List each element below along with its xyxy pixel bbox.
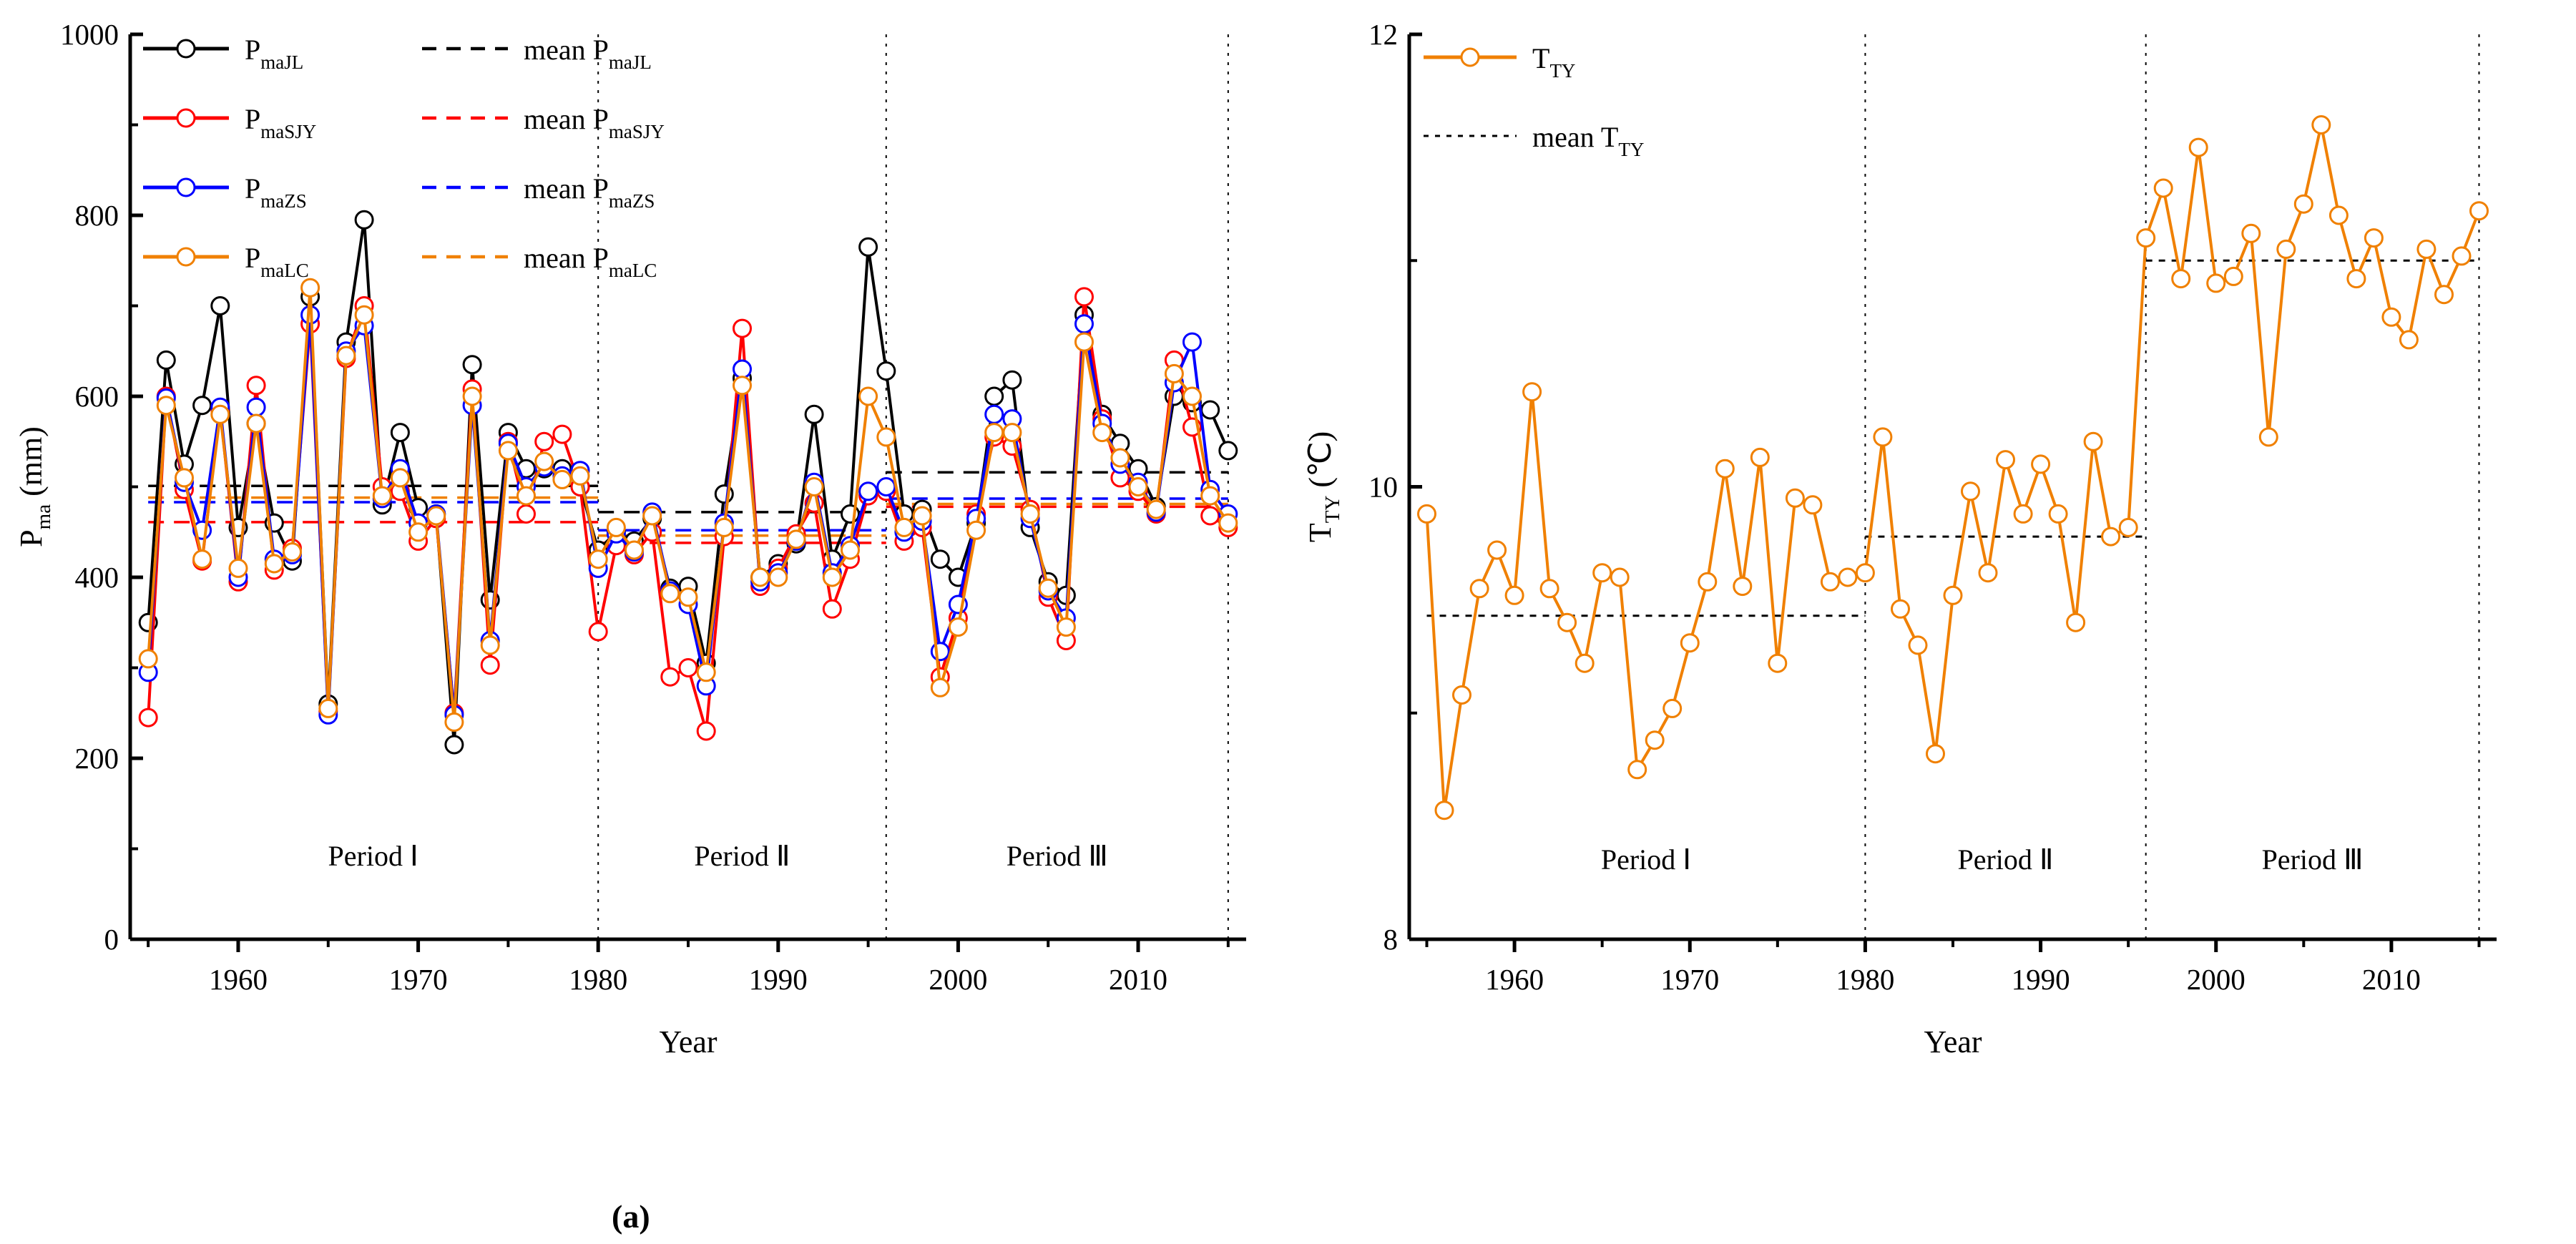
data-point-marker [1076, 288, 1093, 305]
x-tick-label: 2000 [2187, 963, 2246, 996]
series-group [139, 211, 1237, 753]
data-point-marker [1004, 371, 1021, 388]
data-point-marker [2190, 139, 2207, 156]
data-point-marker [554, 471, 571, 488]
data-point-marker [481, 657, 499, 674]
data-point-marker [1874, 428, 1891, 446]
data-point-marker [157, 351, 175, 368]
period-label: Period Ⅰ [1601, 843, 1691, 876]
period-label: Period Ⅲ [1007, 840, 1108, 872]
data-point-marker [1927, 745, 1944, 763]
data-point-marker [1220, 514, 1237, 532]
data-point-marker [338, 347, 355, 364]
data-point-marker [2436, 286, 2453, 303]
y-tick-label: 600 [75, 380, 119, 413]
data-point-marker [194, 397, 211, 414]
data-point-marker [212, 406, 229, 423]
series-line [1427, 125, 2479, 810]
data-point-marker [2330, 207, 2347, 224]
period-label: Period Ⅱ [1957, 843, 2053, 876]
data-point-marker [554, 426, 571, 443]
data-point-marker [1856, 564, 1874, 582]
data-point-marker [1524, 383, 1541, 401]
data-point-marker [2155, 180, 2172, 197]
legend-label: mean PmaZS [524, 172, 655, 212]
legend: PmaJLPmaSJYPmaZSPmaLCmean PmaJLmean PmaS… [143, 34, 665, 281]
data-point-marker [518, 487, 535, 504]
panel-a-label: (a) [612, 1198, 650, 1235]
data-point-marker [1769, 655, 1786, 672]
data-point-marker [860, 483, 877, 500]
data-point-marker [302, 279, 319, 296]
legend-item[interactable]: PmaZS [143, 172, 307, 212]
data-point-marker [1202, 507, 1219, 524]
data-point-marker [1559, 614, 1576, 631]
legend-label: TTY [1532, 42, 1575, 82]
data-point-marker [1997, 451, 2014, 469]
period-label: Period Ⅱ [694, 840, 790, 872]
data-point-marker [2085, 433, 2102, 450]
data-point-marker [1419, 505, 1436, 522]
data-point-marker [1681, 635, 1698, 652]
y-tick-label: 200 [75, 742, 119, 775]
data-point-marker [878, 428, 895, 446]
y-axis-title: TTY (℃) [1303, 431, 1344, 542]
mean-lines [148, 472, 1228, 543]
data-point-marker [589, 551, 607, 568]
chart-b-svg: 81012196019701980199020002010TTY (℃)Year… [1295, 0, 2576, 1145]
legend-label: mean TTY [1532, 121, 1644, 160]
y-axis-title: Pma (mm) [14, 426, 55, 547]
data-point-marker [662, 585, 679, 602]
data-point-marker [212, 298, 229, 315]
data-point-marker [2049, 505, 2067, 522]
data-point-marker [626, 542, 643, 559]
data-point-marker [464, 388, 481, 405]
legend-label: mean PmaLC [524, 242, 657, 281]
data-point-marker [986, 388, 1003, 405]
data-point-marker [1436, 802, 1453, 819]
data-point-marker [320, 700, 337, 717]
y-tick-label: 800 [75, 199, 119, 232]
data-point-marker [1165, 365, 1182, 382]
x-tick-label: 1960 [1485, 963, 1544, 996]
legend-label: PmaZS [245, 172, 307, 212]
data-point-marker [896, 519, 913, 536]
data-point-marker [2260, 428, 2277, 446]
legend-label: mean PmaJL [524, 34, 652, 73]
x-axis-title: Year [1924, 1024, 1982, 1059]
legend-label: PmaJL [245, 34, 303, 73]
data-point-marker [1454, 687, 1471, 704]
data-point-marker [464, 356, 481, 373]
data-point-marker [1112, 449, 1129, 466]
data-point-marker [248, 377, 265, 394]
data-point-marker [1646, 732, 1663, 749]
data-point-marker [878, 363, 895, 380]
data-point-marker [2225, 268, 2242, 285]
data-point-marker [2400, 331, 2417, 348]
data-point-marker [1220, 442, 1237, 459]
data-point-marker [194, 551, 211, 568]
y-tick-label: 10 [1368, 471, 1398, 504]
legend-item[interactable]: mean PmaZS [422, 172, 655, 212]
data-point-marker [248, 415, 265, 432]
y-tick-label: 400 [75, 561, 119, 594]
data-point-marker [734, 361, 751, 378]
data-point-marker [914, 507, 931, 524]
data-point-marker [752, 569, 769, 586]
legend-swatch-marker [177, 248, 195, 265]
period-label: Period Ⅲ [2262, 843, 2364, 876]
data-point-marker [1979, 564, 1997, 582]
x-tick-label: 2000 [929, 963, 987, 996]
data-point-marker [1022, 506, 1039, 523]
data-point-marker [662, 668, 679, 685]
data-point-marker [1821, 573, 1838, 590]
data-point-marker [968, 521, 985, 539]
data-point-marker [356, 211, 373, 228]
svg-text:Pma (mm): Pma (mm) [14, 426, 55, 547]
data-point-marker [734, 377, 751, 394]
data-point-marker [536, 433, 553, 450]
data-point-marker [1147, 501, 1165, 518]
data-point-marker [1839, 569, 1856, 586]
data-point-marker [1004, 424, 1021, 441]
data-point-marker [1944, 587, 1962, 604]
data-point-marker [860, 238, 877, 255]
data-point-marker [2243, 225, 2260, 242]
data-point-marker [1094, 424, 1111, 441]
period-labels: Period ⅠPeriod ⅡPeriod Ⅲ [1601, 843, 2364, 876]
x-tick-label: 2010 [1109, 963, 1167, 996]
legend-item[interactable]: PmaSJY [143, 103, 316, 142]
data-point-marker [2278, 240, 2295, 258]
data-point-marker [2208, 275, 2225, 292]
data-point-marker [644, 507, 661, 524]
data-point-marker [373, 487, 391, 504]
legend-swatch-marker [177, 40, 195, 57]
y-tick-label: 8 [1384, 923, 1399, 956]
legend-item[interactable]: PmaJL [143, 34, 303, 73]
data-point-marker [1039, 579, 1057, 597]
data-point-marker [284, 544, 301, 561]
data-point-marker [1594, 564, 1611, 582]
data-point-marker [391, 424, 408, 441]
data-point-marker [1962, 483, 1979, 500]
data-point-marker [2014, 505, 2032, 522]
data-point-marker [1506, 587, 1523, 604]
legend-item[interactable]: TTY [1424, 42, 1575, 82]
data-point-marker [446, 713, 463, 730]
data-point-marker [805, 406, 823, 423]
data-point-marker [2313, 117, 2330, 134]
data-point-marker [823, 600, 841, 617]
data-point-marker [481, 637, 499, 654]
data-point-marker [2471, 202, 2488, 220]
data-point-marker [842, 542, 859, 559]
x-axis-title: Year [659, 1024, 717, 1059]
legend: TTYmean TTY [1424, 42, 1644, 160]
data-point-marker [823, 569, 841, 586]
panel-a: 0200400600800100019601970198019902000201… [0, 0, 1295, 1244]
svg-text:TTY (℃): TTY (℃) [1303, 431, 1344, 542]
data-point-marker [1076, 315, 1093, 333]
data-point-marker [986, 406, 1003, 423]
data-point-marker [1734, 578, 1751, 595]
x-tick-label: 1960 [209, 963, 268, 996]
series [1419, 117, 2488, 819]
data-point-marker [265, 555, 283, 572]
data-point-marker [986, 424, 1003, 441]
legend-item[interactable]: mean TTY [1424, 121, 1644, 160]
data-point-marker [2032, 456, 2049, 473]
chart-a-svg: 0200400600800100019601970198019902000201… [0, 0, 1295, 1145]
data-point-marker [1541, 580, 1558, 597]
data-point-marker [931, 551, 949, 568]
y-tick-label: 12 [1368, 18, 1398, 51]
x-tick-label: 1980 [1836, 963, 1894, 996]
data-point-marker [805, 479, 823, 496]
legend-item[interactable]: mean PmaJL [422, 34, 652, 73]
series-line [148, 315, 1228, 715]
data-point-marker [157, 397, 175, 414]
data-point-marker [2102, 528, 2120, 545]
data-point-marker [2418, 240, 2435, 258]
data-point-marker [1184, 388, 1201, 405]
data-point-marker [1130, 479, 1147, 496]
data-point-marker [1184, 333, 1201, 351]
data-point-marker [697, 664, 715, 681]
data-point-marker [589, 623, 607, 640]
data-point-marker [176, 469, 193, 486]
legend-swatch-marker [177, 179, 195, 196]
data-point-marker [2137, 230, 2155, 247]
x-tick-label: 1970 [1660, 963, 1719, 996]
data-point-marker [1804, 496, 1821, 514]
data-point-marker [2120, 519, 2137, 536]
data-point-marker [2348, 270, 2365, 288]
period-label: Period Ⅰ [328, 840, 418, 872]
data-point-marker [931, 643, 949, 660]
data-point-marker [1471, 580, 1488, 597]
data-point-marker [428, 507, 445, 524]
data-point-marker [1629, 761, 1646, 778]
data-point-marker [1202, 487, 1219, 504]
data-point-marker [931, 679, 949, 696]
data-point-marker [230, 559, 247, 577]
data-point-marker [1699, 573, 1716, 590]
data-point-marker [697, 723, 715, 740]
legend-swatch-marker [177, 109, 195, 127]
data-point-marker [1076, 333, 1093, 351]
panel-b: 81012196019701980199020002010TTY (℃)Year… [1295, 0, 2576, 1244]
data-point-marker [715, 519, 733, 536]
data-point-marker [2383, 308, 2400, 325]
mean-lines [1427, 260, 2479, 616]
data-point-marker [788, 531, 805, 548]
data-point-marker [446, 736, 463, 753]
data-point-marker [1909, 637, 1926, 654]
data-point-marker [410, 524, 427, 541]
legend-item[interactable]: PmaLC [143, 242, 309, 281]
data-point-marker [1202, 401, 1219, 418]
x-tick-label: 1990 [2012, 963, 2070, 996]
figure-root: 0200400600800100019601970198019902000201… [0, 0, 2576, 1244]
data-point-marker [1786, 489, 1803, 506]
data-point-marker [536, 453, 553, 470]
data-point-marker [499, 442, 516, 459]
data-point-marker [248, 398, 265, 416]
x-tick-label: 1980 [569, 963, 627, 996]
legend-swatch-marker [1461, 49, 1479, 66]
data-point-marker [680, 589, 697, 606]
data-point-marker [1057, 619, 1074, 636]
period-dividers [1865, 34, 2479, 939]
data-point-marker [949, 619, 966, 636]
y-tick-label: 1000 [60, 18, 119, 51]
data-point-marker [1576, 655, 1593, 672]
legend-label: mean PmaSJY [524, 103, 665, 142]
y-tick-label: 0 [104, 923, 119, 956]
data-point-marker [1716, 460, 1733, 477]
data-point-marker [770, 569, 787, 586]
data-point-marker [356, 306, 373, 323]
data-point-marker [878, 479, 895, 496]
data-point-marker [860, 388, 877, 405]
x-tick-label: 1990 [749, 963, 808, 996]
data-point-marker [139, 650, 157, 667]
data-point-marker [1611, 569, 1628, 586]
legend-label: PmaLC [245, 242, 309, 281]
data-point-marker [1892, 600, 1909, 617]
legend-item[interactable]: mean PmaLC [422, 242, 657, 281]
data-point-marker [2067, 614, 2085, 631]
legend-label: PmaSJY [245, 103, 316, 142]
data-point-marker [1489, 542, 1506, 559]
data-point-marker [607, 519, 625, 536]
data-point-marker [2173, 270, 2190, 288]
data-point-marker [1751, 449, 1768, 466]
period-labels: Period ⅠPeriod ⅡPeriod Ⅲ [328, 840, 1108, 872]
data-point-marker [680, 660, 697, 677]
data-point-marker [518, 506, 535, 523]
data-point-marker [391, 469, 408, 486]
x-tick-label: 1970 [389, 963, 448, 996]
data-point-marker [2453, 248, 2470, 265]
x-tick-label: 2010 [2362, 963, 2421, 996]
data-point-marker [139, 709, 157, 726]
data-point-marker [2365, 230, 2382, 247]
legend-item[interactable]: mean PmaSJY [422, 103, 665, 142]
series-group [1419, 117, 2488, 819]
data-point-marker [2295, 195, 2312, 212]
data-point-marker [572, 467, 589, 484]
data-point-marker [1664, 700, 1681, 717]
data-point-marker [734, 320, 751, 337]
